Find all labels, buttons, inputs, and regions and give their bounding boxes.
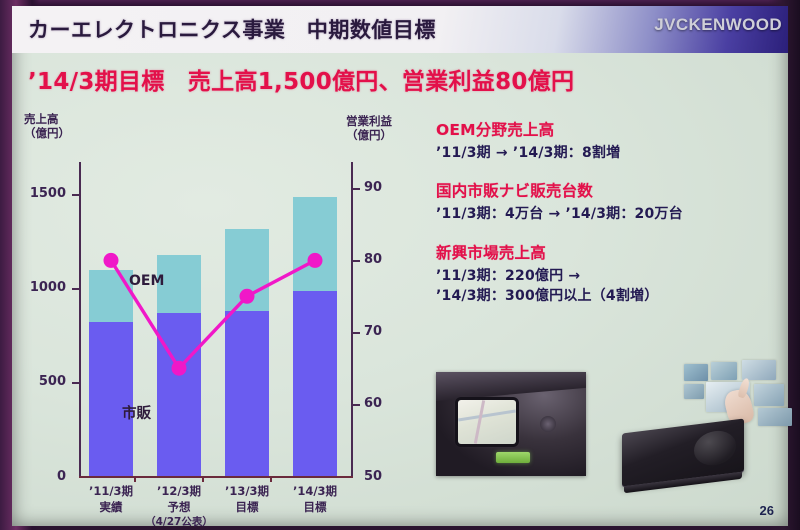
- x-axis-line: [79, 476, 353, 478]
- bar-segment-retail: [293, 291, 337, 476]
- y-axis-title-right: 営業利益 （億円）: [346, 114, 392, 143]
- highlight-detail: ’11/3期：220億円 →: [436, 266, 786, 286]
- y-tick-left-1000: [72, 288, 79, 290]
- y-tick-left-500: [72, 382, 79, 384]
- y-label-right-70: 70: [364, 324, 382, 339]
- y-label-left-0: 0: [22, 469, 66, 484]
- x-tick-2: [202, 476, 204, 482]
- title-band: カーエレクトロニクス事業 中期数値目標 JVCKENWOOD: [12, 6, 788, 53]
- panel-thumb-6: [758, 408, 792, 426]
- subtitle: ’14/3期目標 売上高1,500億円、営業利益80億円: [28, 62, 574, 96]
- x-axis-label-3: ’14/3期 目標: [272, 484, 358, 515]
- y-label-left-1500: 1500: [22, 186, 66, 201]
- y-label-right-50: 50: [364, 469, 382, 484]
- list-item: 新興市場売上高 ’11/3期：220億円 → ’14/3期：300億円以上（4割…: [436, 241, 786, 307]
- highlight-heading: OEM分野売上高: [436, 118, 786, 140]
- bar-segment-oem: [293, 197, 337, 291]
- x-tick-1: [134, 476, 136, 482]
- y-tick-left-1500: [72, 194, 79, 196]
- x-tick-3: [270, 476, 272, 482]
- list-item: OEM分野売上高 ’11/3期 → ’14/3期：8割増: [436, 118, 786, 163]
- highlight-detail: ’14/3期：300億円以上（4割増）: [436, 286, 786, 306]
- panel-thumb-4: [684, 384, 704, 399]
- bar-segment-oem: [89, 270, 133, 322]
- series-label-retail: 市販: [122, 402, 151, 423]
- y-label-right-90: 90: [364, 180, 382, 195]
- page-number: 26: [760, 503, 774, 518]
- page-title: カーエレクトロニクス事業 中期数値目標: [28, 14, 436, 44]
- y-tick-right-60: [353, 404, 360, 406]
- y-label-left-500: 500: [22, 374, 66, 389]
- y-axis-right-line: [351, 162, 353, 478]
- y-tick-right-70: [353, 332, 360, 334]
- stacked-bar-chart: 売上高 （億円） 営業利益 （億円） 1500 1000 500 0 90: [16, 110, 416, 522]
- navigation-map-screen: [458, 400, 516, 444]
- bar-segment-retail: [157, 313, 201, 476]
- y-axis-title-left: 売上高 （億円）: [24, 112, 70, 141]
- highlight-detail: ’11/3期 → ’14/3期：8割増: [436, 143, 786, 163]
- list-item: 国内市販ナビ販売台数 ’11/3期：4万台 → ’14/3期：20万台: [436, 179, 786, 224]
- highlight-heading: 新興市場売上高: [436, 241, 786, 263]
- y-tick-right-90: [353, 188, 360, 190]
- drive-tray: [624, 472, 742, 493]
- y-tick-right-80: [353, 260, 360, 262]
- hand-touch-panel-photo: [684, 364, 800, 426]
- panel-thumb-5: [754, 384, 784, 406]
- panel-thumb-2: [711, 362, 737, 380]
- y-label-left-1000: 1000: [22, 280, 66, 295]
- y-label-right-60: 60: [364, 396, 382, 411]
- audio-lcd-display: [496, 452, 530, 463]
- highlights-list: OEM分野売上高 ’11/3期 → ’14/3期：8割増 国内市販ナビ販売台数 …: [436, 118, 786, 322]
- bar-segment-retail: [89, 322, 133, 476]
- optical-drive-unit-photo: [622, 419, 744, 488]
- panel-thumb-3: [742, 360, 776, 380]
- dashboard-vent: [540, 416, 556, 432]
- bar-segment-oem: [225, 229, 269, 311]
- y-label-right-80: 80: [364, 252, 382, 267]
- highlight-heading: 国内市販ナビ販売台数: [436, 179, 786, 201]
- bar-segment-retail: [225, 311, 269, 476]
- dashboard-hood: [436, 372, 586, 401]
- car-dashboard-navigation-photo: [436, 372, 586, 476]
- panel-thumb-1: [684, 364, 708, 381]
- y-axis-left-line: [79, 162, 81, 478]
- highlight-detail: ’11/3期：4万台 → ’14/3期：20万台: [436, 204, 786, 224]
- jvckenwood-logo: JVCKENWOOD: [654, 15, 782, 35]
- projection-screen-photo: カーエレクトロニクス事業 中期数値目標 JVCKENWOOD ’14/3期目標 …: [0, 0, 800, 530]
- series-label-oem: OEM: [129, 273, 164, 289]
- slide: カーエレクトロニクス事業 中期数値目標 JVCKENWOOD ’14/3期目標 …: [12, 6, 788, 526]
- operating-profit-line: [16, 110, 416, 522]
